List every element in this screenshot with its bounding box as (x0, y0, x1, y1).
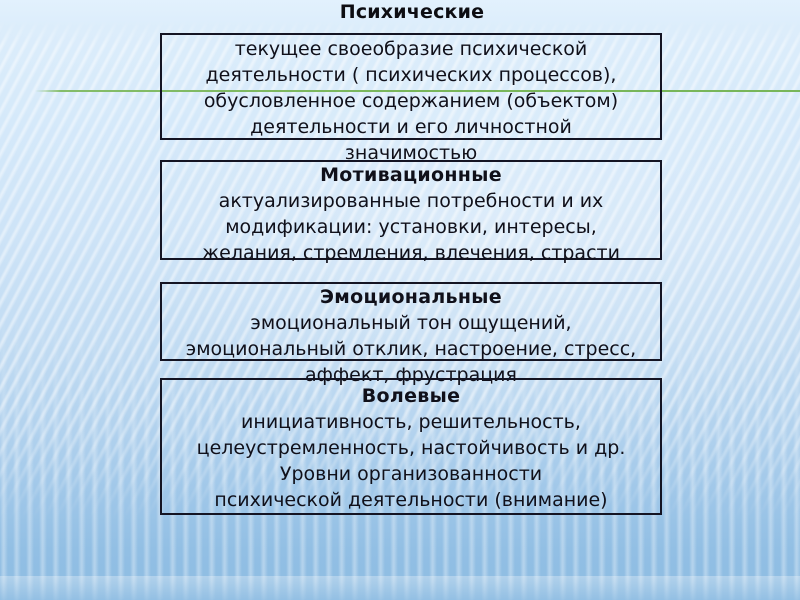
box-heading-emotional: Эмоциональные (168, 284, 654, 310)
box-heading-motivational: Мотивационные (168, 162, 654, 188)
box-text-motivational: Мотивационныеактуализированные потребнос… (160, 162, 662, 266)
box-body-volitional: инициативность, решительность, целеустре… (197, 411, 626, 511)
box-heading-volitional: Волевые (168, 383, 654, 409)
slide-canvas: Психические текущее своеобразие психичес… (0, 0, 800, 600)
box-text-psychic: текущее своеобразие психической деятельн… (160, 36, 662, 166)
box-text-emotional: Эмоциональныеэмоциональный тон ощущений,… (160, 284, 662, 388)
box-body-psychic: текущее своеобразие психической деятельн… (204, 38, 618, 164)
box-body-motivational: актуализированные потребности и их модиф… (202, 190, 620, 264)
background-bottom-band (0, 576, 800, 600)
box-body-emotional: эмоциональный тон ощущений, эмоциональны… (186, 312, 636, 386)
page-title: Психические (160, 1, 664, 23)
box-text-volitional: Волевыеинициативность, решительность, це… (160, 383, 662, 513)
